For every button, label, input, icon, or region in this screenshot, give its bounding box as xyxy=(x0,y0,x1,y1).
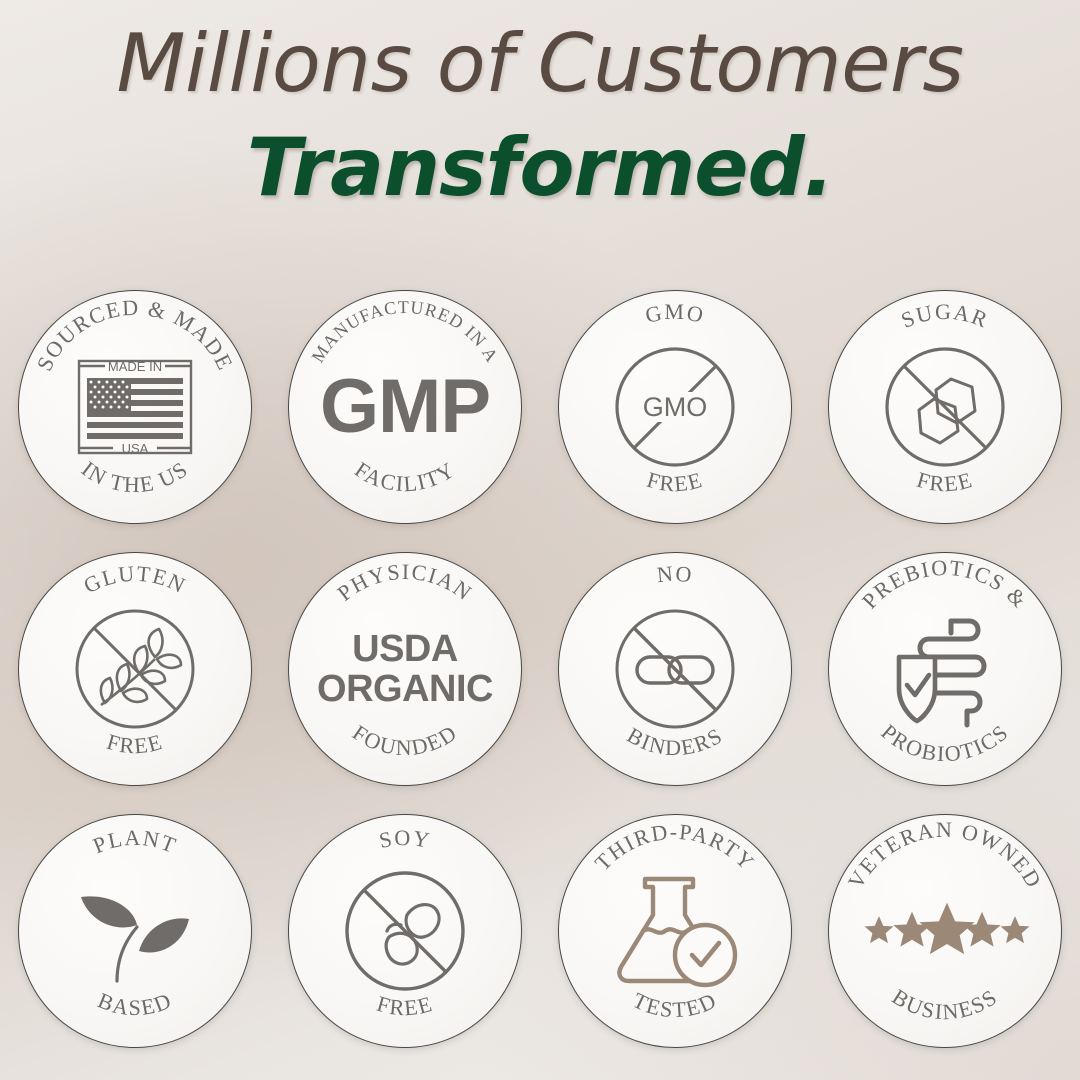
badge-sugar-free: SUGAR FREE xyxy=(828,290,1062,524)
badge-bottom-label: FACILITY xyxy=(350,457,459,497)
page-heading: Millions of Customers Transformed. xyxy=(0,0,1080,208)
heading-line-2: Transformed. xyxy=(0,128,1080,208)
badge-soy-free: SOY FREE xyxy=(288,814,522,1048)
badge-grid: SOURCED & MADE IN THE US MADE IN USA xyxy=(0,276,1080,1062)
badge-top-label: MANUFACTURED IN A xyxy=(308,297,503,366)
badge-third-party-tested: THIRD-PARTY TESTED xyxy=(558,814,792,1048)
badge-cell: VETERAN OWNED BUSINESS xyxy=(810,800,1080,1062)
badge-cell: PREBIOTICS & PROBIOTICS xyxy=(810,538,1080,800)
badge-sourced-made-in-the-us: SOURCED & MADE IN THE US MADE IN USA xyxy=(18,290,252,524)
us-flag-icon: MADE IN USA xyxy=(19,291,251,523)
svg-text:FACILITY: FACILITY xyxy=(350,457,459,497)
certification-badges-page: Millions of Customers Transformed. SOURC… xyxy=(0,0,1080,1080)
badge-cell: NO BINDERS xyxy=(540,538,810,800)
badge-gmp-facility: MANUFACTURED IN A FACILITY GMP xyxy=(288,290,522,524)
badge-cell: PHYSICIAN FOUNDED USDA ORGANIC xyxy=(270,538,540,800)
usda-organic-wordmark: USDA ORGANIC xyxy=(317,629,493,710)
no-wheat-icon xyxy=(19,553,251,785)
no-soybean-icon xyxy=(289,815,521,1047)
badge-gmo-free: GMO FREE GMO xyxy=(558,290,792,524)
badge-bottom-label: FOUNDED xyxy=(348,720,462,760)
badge-prebiotics-probiotics: PREBIOTICS & PROBIOTICS xyxy=(828,552,1062,786)
five-stars-icon xyxy=(829,815,1061,1047)
badge-cell: SUGAR FREE xyxy=(810,276,1080,538)
svg-text:PHYSICIAN: PHYSICIAN xyxy=(332,559,477,606)
organic-line: ORGANIC xyxy=(317,669,493,709)
gmp-wordmark: GMP xyxy=(320,371,490,443)
badge-cell: MANUFACTURED IN A FACILITY GMP xyxy=(270,276,540,538)
svg-text:FOUNDED: FOUNDED xyxy=(348,720,462,760)
no-gmo-icon: GMO xyxy=(559,291,791,523)
gmo-inner-label: GMO xyxy=(643,392,708,422)
badge-cell: SOY FREE xyxy=(270,800,540,1062)
badge-gluten-free: GLUTEN FREE xyxy=(18,552,252,786)
badge-cell: GMO FREE GMO xyxy=(540,276,810,538)
svg-text:MANUFACTURED IN A: MANUFACTURED IN A xyxy=(308,297,503,366)
flask-check-icon xyxy=(559,815,791,1047)
gut-shield-check-icon xyxy=(829,553,1061,785)
flag-usa-label: USA xyxy=(122,441,149,456)
badge-no-binders: NO BINDERS xyxy=(558,552,792,786)
badge-top-label: PHYSICIAN xyxy=(332,559,477,606)
badge-veteran-owned-business: VETERAN OWNED BUSINESS xyxy=(828,814,1062,1048)
sprout-leaf-icon xyxy=(19,815,251,1047)
badge-cell: PLANT BASED xyxy=(0,800,270,1062)
badge-plant-based: PLANT BASED xyxy=(18,814,252,1048)
no-sugar-cube-icon xyxy=(829,291,1061,523)
no-chain-link-icon xyxy=(559,553,791,785)
badge-physician-founded: PHYSICIAN FOUNDED USDA ORGANIC xyxy=(288,552,522,786)
flag-made-in-label: MADE IN xyxy=(108,359,162,374)
badge-cell: SOURCED & MADE IN THE US MADE IN USA xyxy=(0,276,270,538)
heading-line-1: Millions of Customers xyxy=(0,24,1080,104)
usda-line: USDA xyxy=(317,629,493,669)
badge-cell: THIRD-PARTY TESTED xyxy=(540,800,810,1062)
badge-cell: GLUTEN FREE xyxy=(0,538,270,800)
